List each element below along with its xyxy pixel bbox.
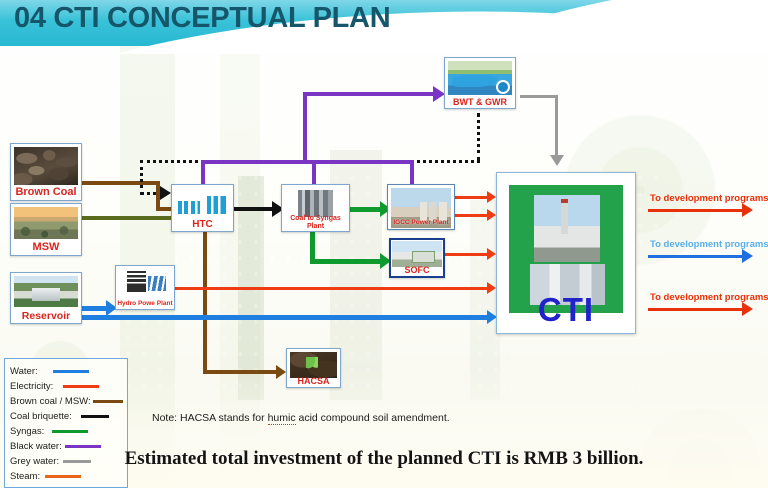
msw-label: MSW xyxy=(11,242,81,254)
note-text: Note: HACSA stands for humic acid compou… xyxy=(152,412,450,424)
output-label-3: To development programs xyxy=(650,292,768,303)
htc-image xyxy=(175,188,230,218)
page-title: 04 CTI CONCEPTUAL PLAN xyxy=(14,2,390,35)
legend-swatch-syngas xyxy=(52,430,88,433)
legend-swatch-water xyxy=(53,370,89,373)
link-blackwater-trunk-h xyxy=(201,160,414,164)
link-bwt-cti-grey-h xyxy=(520,95,558,98)
node-reservoir[interactable]: Reservoir xyxy=(10,272,82,324)
link-sofc-cti-arrow xyxy=(487,248,496,260)
link-msw-htc xyxy=(82,216,176,220)
brown-coal-label: Brown Coal xyxy=(11,187,81,199)
output-line-2 xyxy=(648,255,746,258)
htc-label: HTC xyxy=(172,220,233,231)
node-cti[interactable]: CTI xyxy=(496,172,636,334)
msw-image xyxy=(14,207,78,239)
legend-swatch-electricity xyxy=(63,385,99,388)
legend-item: Brown coal / MSW: xyxy=(5,394,127,409)
link-browncoal-htc-h1 xyxy=(82,181,160,185)
recycle-icon xyxy=(496,80,510,94)
link-sofc-cti xyxy=(443,253,492,256)
link-igcc-cti-e2-arrow xyxy=(487,209,496,221)
link-bwt-htc-dotted-v2 xyxy=(140,160,143,195)
node-brown-coal[interactable]: Brown Coal xyxy=(10,143,82,201)
node-hacsa[interactable]: HACSA xyxy=(286,348,341,388)
node-sofc[interactable]: SOFC xyxy=(389,238,445,278)
legend-label: Coal briquette: xyxy=(10,411,72,422)
link-blackwater-top-h xyxy=(303,92,437,96)
note-suffix: acid compound soil amendment. xyxy=(296,412,450,424)
node-hydro-power-plant[interactable]: Hydro Powe Plant xyxy=(115,265,175,310)
coal-to-syngas-plant-label: Coal to Syngas Plant xyxy=(282,215,349,230)
output-line-3 xyxy=(648,308,746,311)
legend-item: Coal briquette: xyxy=(5,409,127,424)
legend-label: Steam: xyxy=(10,471,40,482)
link-bwt-cti-grey-arrow xyxy=(550,155,564,166)
hydro-power-plant-image xyxy=(119,269,171,296)
node-htc[interactable]: HTC xyxy=(171,184,234,232)
slide-canvas: 04 CTI CONCEPTUAL PLAN xyxy=(0,0,768,488)
link-htc-hacsa-h xyxy=(203,370,278,374)
output-line-1 xyxy=(648,209,746,212)
legend-label: Syngas: xyxy=(10,426,44,437)
legend-item: Water: xyxy=(5,364,127,379)
link-syngas-sofc-h xyxy=(310,259,384,264)
link-igcc-cti-e1-arrow xyxy=(487,191,496,203)
brown-coal-image xyxy=(14,147,78,185)
igcc-power-plant-label: IGCC Power Plant xyxy=(388,220,454,227)
output-label-2: To development programs xyxy=(650,239,768,250)
node-bwt-gwr[interactable]: BWT & GWR xyxy=(444,57,516,109)
output-arrow-1 xyxy=(742,203,753,217)
note-underlined: humic xyxy=(268,412,296,425)
sofc-image xyxy=(392,241,442,267)
link-blackwater-riser-v xyxy=(303,92,307,164)
hydro-power-plant-label: Hydro Powe Plant xyxy=(116,301,174,308)
link-hydro-cti xyxy=(175,287,492,290)
output-label-1: To development programs xyxy=(650,193,768,204)
link-htc-syngas xyxy=(234,207,276,211)
link-htc-hacsa-arrow xyxy=(276,365,286,379)
legend-swatch-steam xyxy=(45,475,81,478)
hacsa-label: HACSA xyxy=(287,377,340,386)
link-bwt-htc-dotted-arrow xyxy=(160,186,171,200)
cti-plant-image xyxy=(534,195,600,262)
node-msw[interactable]: MSW xyxy=(10,203,82,256)
link-bwt-cti-grey-v xyxy=(555,95,558,157)
legend-swatch-browncoal xyxy=(93,400,123,403)
link-syngas-igcc xyxy=(350,207,384,212)
link-htc-hacsa-v xyxy=(203,232,207,374)
output-arrow-3 xyxy=(742,302,753,316)
legend-label: Brown coal / MSW: xyxy=(10,396,91,407)
legend-item: Electricity: xyxy=(5,379,127,394)
sofc-label: SOFC xyxy=(391,266,443,275)
node-igcc-power-plant[interactable]: IGCC Power Plant xyxy=(387,184,455,230)
legend-item: Steam: xyxy=(5,469,127,484)
investment-statement: Estimated total investment of the planne… xyxy=(0,448,768,470)
bwt-gwr-label: BWT & GWR xyxy=(445,98,515,107)
link-reservoir-cti xyxy=(82,315,492,320)
legend-swatch-briquette xyxy=(81,415,109,418)
coal-to-syngas-plant-image xyxy=(285,188,346,218)
hacsa-image xyxy=(290,352,337,378)
legend-item: Syngas: xyxy=(5,424,127,439)
link-bwt-htc-dotted-v xyxy=(477,113,480,161)
reservoir-label: Reservoir xyxy=(11,311,81,322)
reservoir-image xyxy=(14,276,78,307)
link-hydro-cti-arrow xyxy=(487,282,496,294)
note-prefix: Note: HACSA stands for xyxy=(152,412,268,424)
cti-label: CTI xyxy=(497,291,635,329)
legend-label: Water: xyxy=(10,366,38,377)
output-arrow-2 xyxy=(742,249,753,263)
node-coal-to-syngas-plant[interactable]: Coal to Syngas Plant xyxy=(281,184,350,232)
legend-label: Electricity: xyxy=(10,381,53,392)
